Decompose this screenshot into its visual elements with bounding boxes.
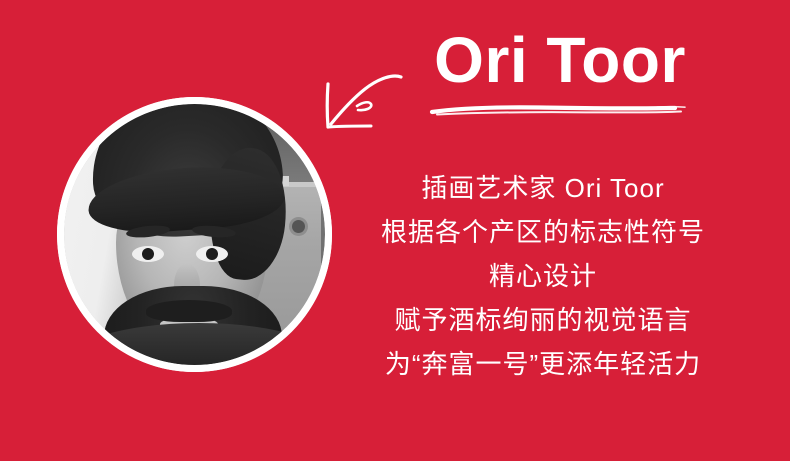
description-line-4: 赋予酒标绚丽的视觉语言 [298, 298, 788, 342]
portrait-eye-left [132, 246, 164, 262]
poster-canvas: Ori Toor 插画艺术家 Ori Toor 根据各个产区的标志性符号 精心设… [0, 0, 790, 461]
brush-underline-icon [429, 102, 691, 118]
description-line-1: 插画艺术家 Ori Toor [298, 166, 788, 210]
avatar-photo-clip [64, 104, 325, 365]
description-line-3: 精心设计 [298, 254, 788, 298]
portrait-eye-right [196, 246, 228, 262]
portrait-photo [64, 104, 325, 365]
page-title: Ori Toor [360, 28, 760, 92]
title-block: Ori Toor [360, 28, 760, 118]
portrait-mustache [146, 300, 232, 322]
avatar [57, 97, 332, 372]
description-line-2: 根据各个产区的标志性符号 [298, 210, 788, 254]
description-line-5: 为“奔富一号”更添年轻活力 [298, 342, 788, 386]
description-block: 插画艺术家 Ori Toor 根据各个产区的标志性符号 精心设计 赋予酒标绚丽的… [298, 166, 788, 386]
